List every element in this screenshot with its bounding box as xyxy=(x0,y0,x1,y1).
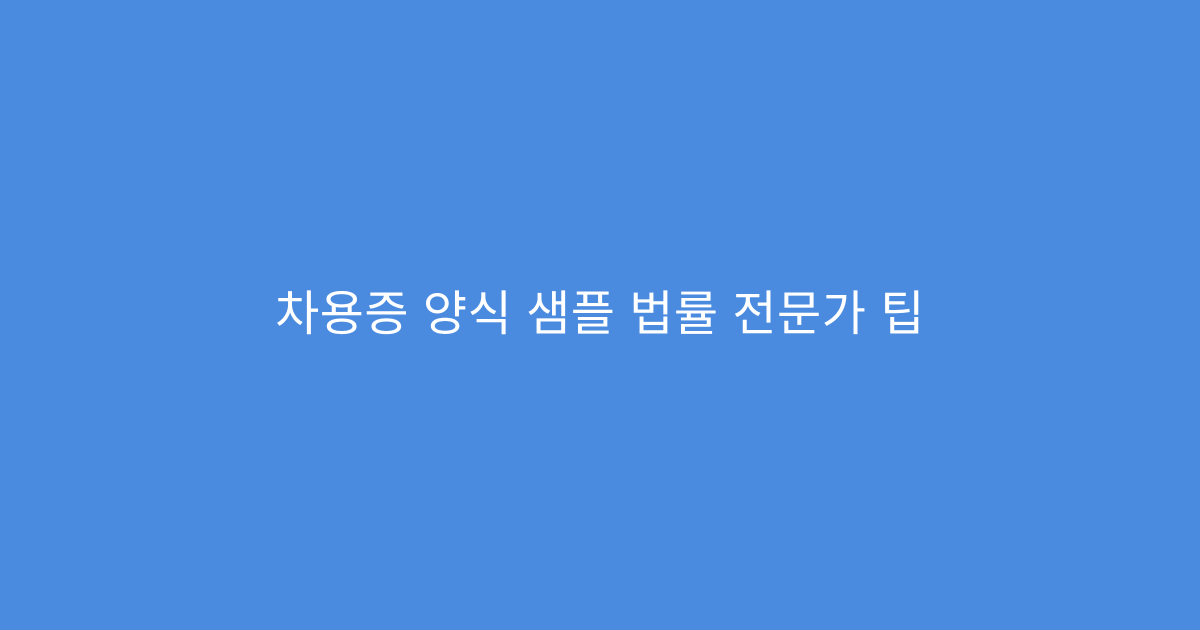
og-share-card: 차용증 양식 샘플 법률 전문가 팁 xyxy=(0,0,1200,630)
page-title: 차용증 양식 샘플 법률 전문가 팁 xyxy=(275,283,925,348)
headline-container: 차용증 양식 샘플 법률 전문가 팁 xyxy=(50,283,1150,348)
